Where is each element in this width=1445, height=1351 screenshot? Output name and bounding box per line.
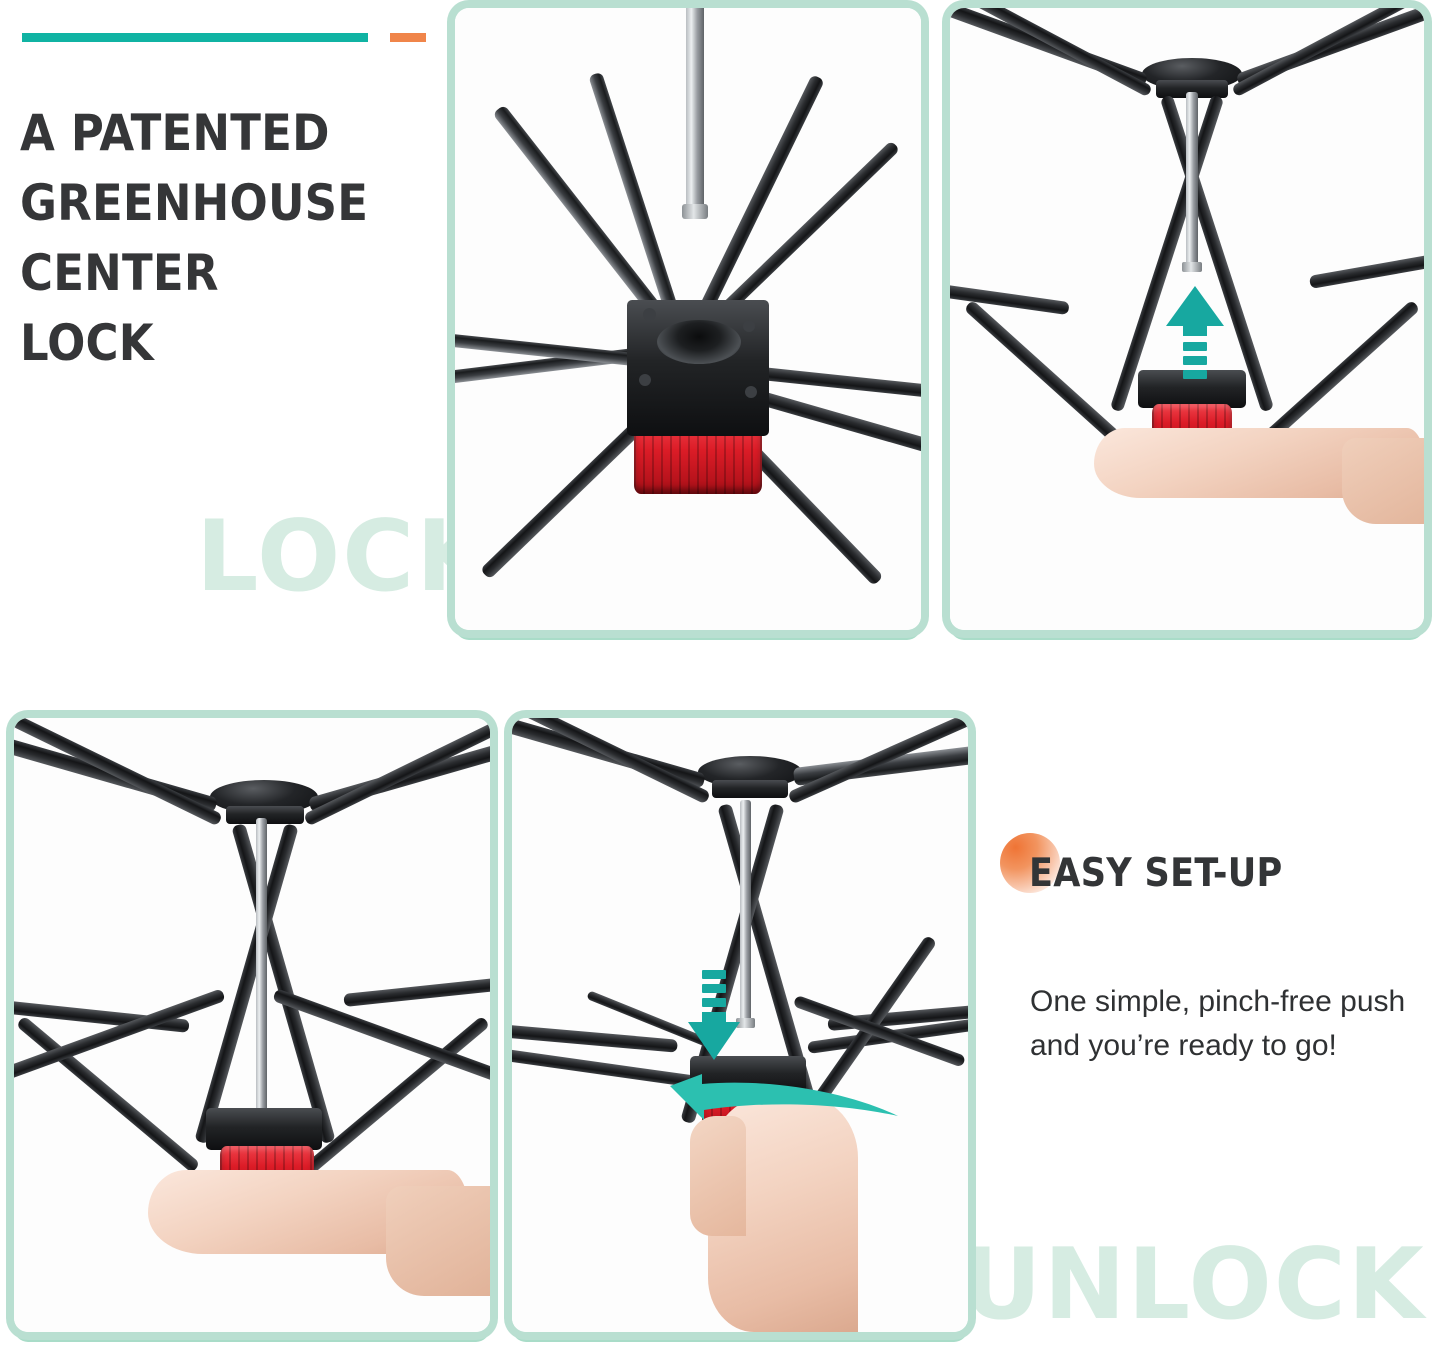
accent-bar-row <box>22 33 426 42</box>
chrome-center-rod-icon <box>740 800 751 1022</box>
push-up-arrow-icon <box>1166 286 1224 380</box>
watermark-lock: LOCK <box>196 500 494 614</box>
chrome-pole-cap-icon <box>682 204 708 219</box>
setup-heading: EASY SET-UP <box>1029 851 1283 896</box>
chrome-center-rod-icon <box>1186 92 1198 266</box>
photo-twist-to-unlock <box>512 718 968 1332</box>
center-lock-screw <box>639 374 651 386</box>
setup-description: One simple, pinch-free push and you’re r… <box>1030 980 1430 1068</box>
chrome-center-rod-icon <box>256 818 267 1118</box>
photo-panel-center-lock-closeup <box>455 8 921 630</box>
accent-bar-teal <box>22 33 368 42</box>
photo-panel-twist-to-unlock <box>512 718 968 1332</box>
center-lock-funnel-icon <box>657 320 741 364</box>
center-lock-screw <box>745 386 757 398</box>
chrome-pole-icon <box>686 8 704 210</box>
center-lock-housing <box>206 1108 322 1150</box>
frame-diagonal <box>964 300 1129 450</box>
photo-center-lock-closeup <box>455 8 921 630</box>
frame-rail <box>303 718 490 826</box>
frame-top-hub-plate <box>712 780 788 798</box>
photo-panel-frame-locked <box>14 718 490 1332</box>
center-lock-screw <box>643 308 656 321</box>
center-lock-screw <box>743 320 755 332</box>
rotate-arrow-icon <box>630 1070 920 1162</box>
watermark-unlock: UNLOCK <box>962 1228 1426 1342</box>
push-down-arrow-icon <box>688 970 740 1062</box>
photo-panel-push-up-to-lock <box>950 8 1424 630</box>
frame-rail <box>14 718 223 826</box>
chrome-center-rod-cap-icon <box>1182 262 1202 272</box>
page-title: A PATENTED GREENHOUSE CENTER LOCK <box>20 98 450 378</box>
frame-rail <box>1309 254 1424 289</box>
hand-wrist-icon <box>386 1186 490 1296</box>
accent-bar-orange <box>390 33 426 42</box>
photo-push-up-to-lock <box>950 8 1424 630</box>
frame-rail <box>512 1024 678 1053</box>
photo-frame-locked <box>14 718 490 1332</box>
frame-rail <box>343 974 490 1007</box>
hand-wrist-icon <box>1342 438 1424 524</box>
